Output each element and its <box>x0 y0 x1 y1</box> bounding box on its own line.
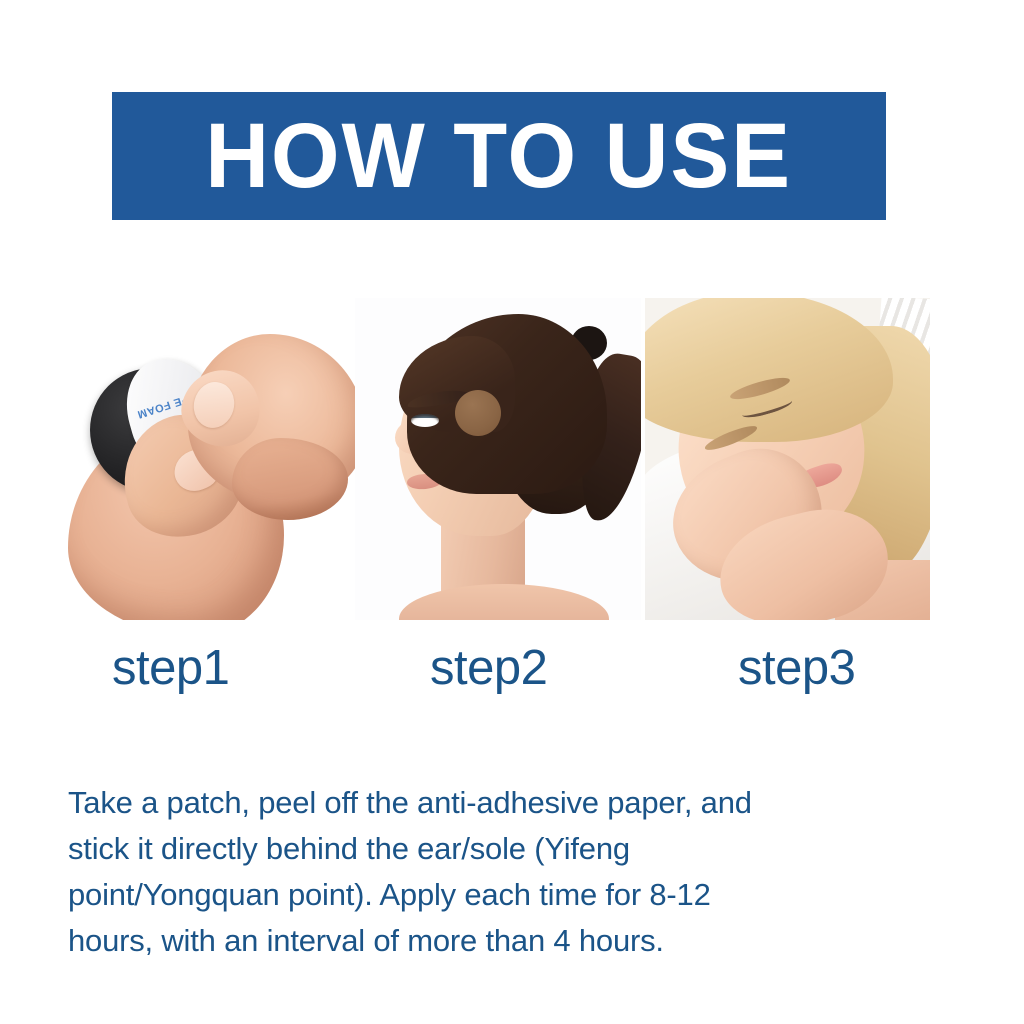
applied-patch-marker <box>455 390 501 436</box>
how-to-use-banner: HOW TO USE <box>112 92 886 220</box>
profile-shoulder <box>399 584 609 620</box>
step-photos-row: 3M PE FOAM <box>62 298 962 620</box>
sleeping-hair-top <box>645 298 893 442</box>
step1-photo: 3M PE FOAM <box>62 298 357 620</box>
instruction-line-3: point/Yongquan point). Apply each time f… <box>68 872 908 918</box>
step2-photo <box>355 298 641 620</box>
instruction-line-1: Take a patch, peel off the anti-adhesive… <box>68 780 908 826</box>
step2-label: step2 <box>430 640 547 696</box>
woman-sleeping-illustration <box>645 298 930 620</box>
hands-peeling-patch-illustration: 3M PE FOAM <box>62 298 357 620</box>
usage-instructions: Take a patch, peel off the anti-adhesive… <box>68 780 908 964</box>
profile-eye <box>411 414 439 427</box>
step3-photo <box>645 298 930 620</box>
woman-profile-illustration <box>355 298 641 620</box>
step-labels-row: step1 step2 step3 <box>62 640 962 700</box>
page-title: HOW TO USE <box>206 110 793 202</box>
instruction-line-4: hours, with an interval of more than 4 h… <box>68 918 908 964</box>
instruction-line-2: stick it directly behind the ear/sole (Y… <box>68 826 908 872</box>
step3-label: step3 <box>738 640 855 696</box>
step1-label: step1 <box>112 640 229 696</box>
